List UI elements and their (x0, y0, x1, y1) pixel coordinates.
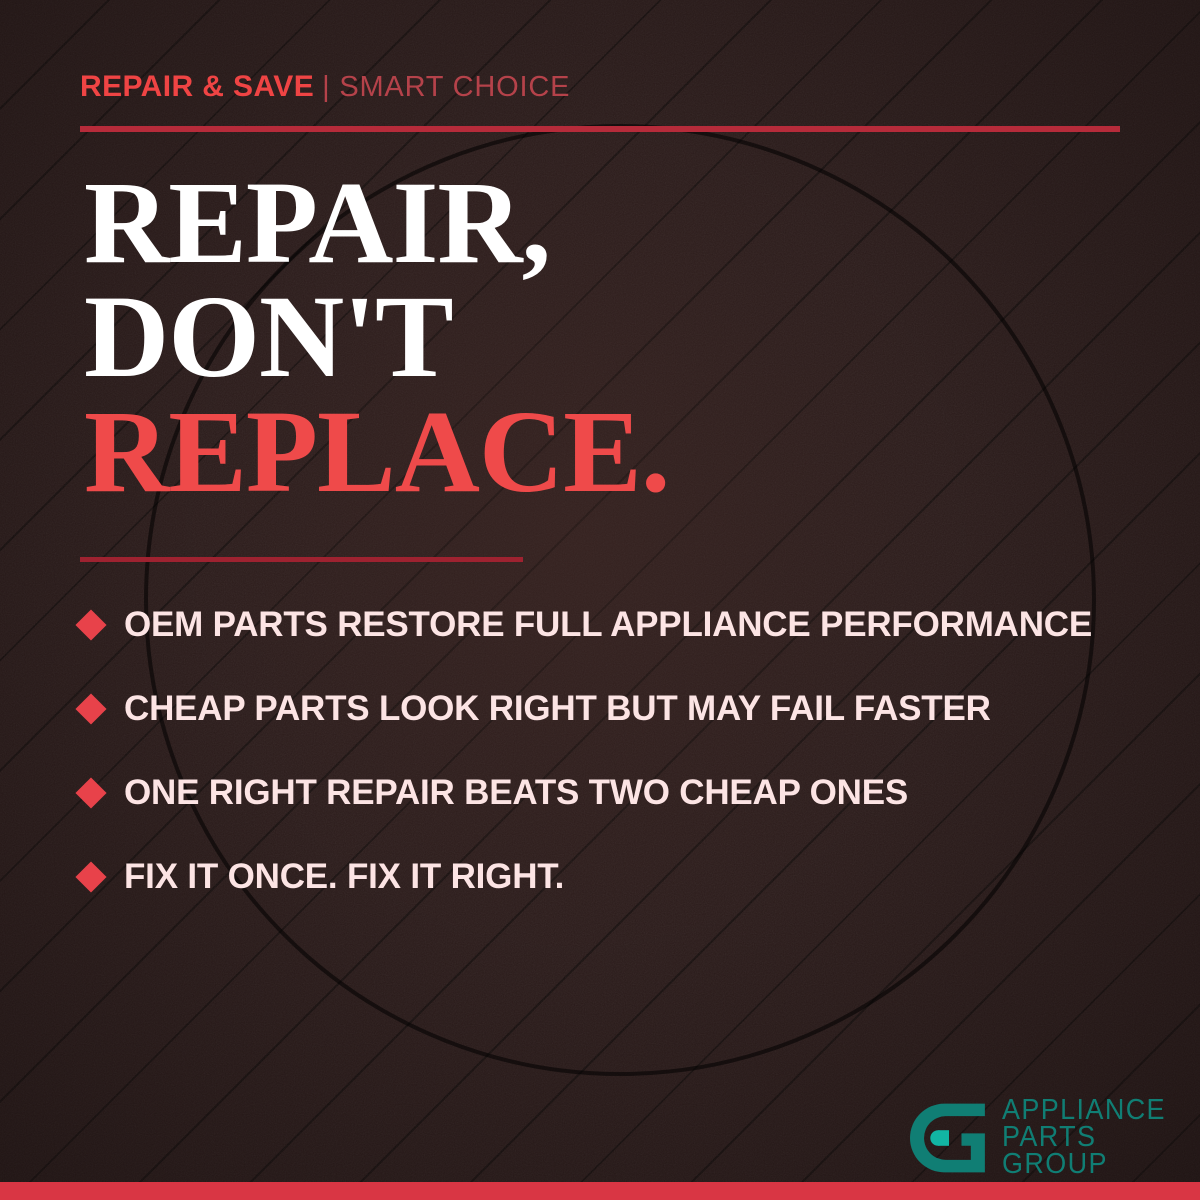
list-item-label: CHEAP PARTS LOOK RIGHT BUT MAY FAIL FAST… (124, 689, 991, 729)
eyebrow-tagline: REPAIR & SAVE| SMART CHOICE (80, 72, 570, 102)
headline-line-2: DON'T (84, 280, 669, 394)
poster-canvas: REPAIR & SAVE| SMART CHOICE REPAIR, DON'… (0, 0, 1200, 1200)
brand-logo: APPLIANCE PARTS GROUP (910, 1097, 1178, 1178)
headline: REPAIR, DON'T REPLACE. (84, 166, 669, 509)
list-item-label: ONE RIGHT REPAIR BEATS TWO CHEAP ONES (124, 773, 908, 813)
diamond-bullet-icon (75, 777, 106, 808)
brand-logo-line-2: PARTS (1002, 1124, 1166, 1151)
list-item: OEM PARTS RESTORE FULL APPLIANCE PERFORM… (80, 583, 1140, 667)
headline-line-3-accent: REPLACE. (84, 395, 669, 509)
appliance-parts-group-g-mark-icon (910, 1099, 988, 1177)
diamond-bullet-icon (75, 693, 106, 724)
poster-content: REPAIR & SAVE| SMART CHOICE REPAIR, DON'… (80, 0, 1120, 1200)
eyebrow-soft-text: | SMART CHOICE (322, 71, 570, 103)
brand-logo-line-1: APPLIANCE (1002, 1097, 1166, 1124)
eyebrow-strong-text: REPAIR & SAVE (80, 70, 314, 103)
benefits-list: OEM PARTS RESTORE FULL APPLIANCE PERFORM… (80, 583, 1140, 919)
brand-logo-wordmark: APPLIANCE PARTS GROUP (1002, 1097, 1178, 1178)
list-item-label: FIX IT ONCE. FIX IT RIGHT. (124, 857, 564, 897)
list-item: CHEAP PARTS LOOK RIGHT BUT MAY FAIL FAST… (80, 667, 1140, 751)
headline-divider-rule (80, 557, 523, 562)
diamond-bullet-icon (75, 609, 106, 640)
headline-line-1: REPAIR, (84, 166, 669, 280)
brand-logo-line-3: GROUP (1002, 1151, 1166, 1178)
header-divider-rule (80, 126, 1120, 132)
list-item: FIX IT ONCE. FIX IT RIGHT. (80, 835, 1140, 919)
list-item: ONE RIGHT REPAIR BEATS TWO CHEAP ONES (80, 751, 1140, 835)
list-item-label: OEM PARTS RESTORE FULL APPLIANCE PERFORM… (124, 605, 1092, 645)
bottom-accent-bar (0, 1182, 1200, 1200)
diamond-bullet-icon (75, 861, 106, 892)
